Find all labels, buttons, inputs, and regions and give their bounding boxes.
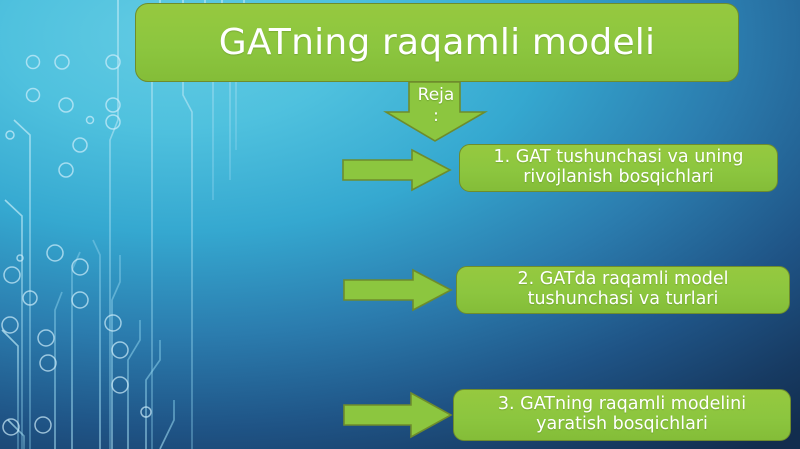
agenda-item-text-3: 3. GATning raqamli modelini yaratish bos… <box>454 395 790 435</box>
right-arrow-2 <box>343 269 453 311</box>
agenda-item-box-1: 1. GAT tushunchasi va uning rivojlanish … <box>459 144 778 192</box>
right-arrow-1 <box>342 149 452 191</box>
down-arrow <box>384 81 488 143</box>
slide-title-text: GATning raqamli modeli <box>211 22 663 63</box>
slide-canvas: GATning raqamli modeli Reja : 1. GAT tus… <box>0 0 800 449</box>
agenda-item-box-3: 3. GATning raqamli modelini yaratish bos… <box>453 389 791 441</box>
agenda-item-text-1: 1. GAT tushunchasi va uning rivojlanish … <box>460 148 777 188</box>
agenda-item-box-2: 2. GATda raqamli model tushunchasi va tu… <box>456 266 790 314</box>
right-arrow-3 <box>343 392 453 438</box>
slide-title-box: GATning raqamli modeli <box>135 3 739 82</box>
agenda-item-text-2: 2. GATda raqamli model tushunchasi va tu… <box>457 270 789 310</box>
